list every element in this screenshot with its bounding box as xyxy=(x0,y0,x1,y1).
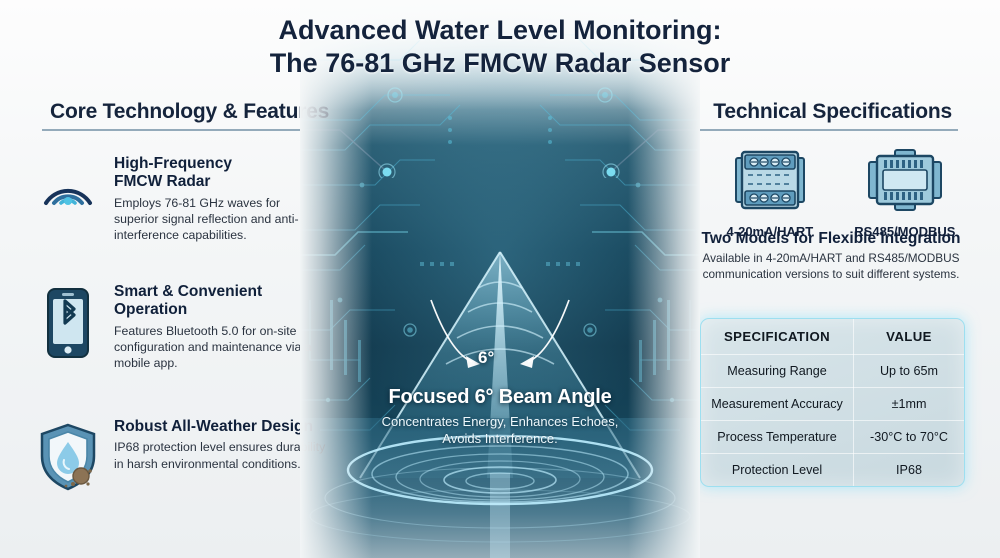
feature-smart-convenient-operation: Smart & Convenient Operation Features Bl… xyxy=(36,283,314,371)
spec-value: -30°C to 70°C xyxy=(854,421,964,454)
two-models-title: Two Models for Flexible Integration xyxy=(676,230,986,248)
beam-caption-block: Focused 6° Beam Angle Concentrates Energ… xyxy=(345,386,655,448)
smartphone-bluetooth-icon xyxy=(36,283,100,359)
beam-angle-label: 6° xyxy=(478,348,494,368)
feature-title: Smart & Convenient Operation xyxy=(114,283,314,320)
feature-robust-all-weather-design: Robust All-Weather Design IP68 protectio… xyxy=(36,418,329,492)
column-header-value: VALUE xyxy=(854,319,964,355)
spec-name: Protection Level xyxy=(701,454,854,487)
page-title: Advanced Water Level Monitoring: The 76-… xyxy=(0,14,1000,81)
left-header-connector-line xyxy=(40,118,460,178)
table-row: Protection Level IP68 xyxy=(701,454,964,487)
spec-name: Process Temperature xyxy=(701,421,854,454)
beam-caption-title: Focused 6° Beam Angle xyxy=(345,386,655,409)
spec-value: ±1mm xyxy=(854,388,964,421)
table-row: Measuring Range Up to 65m xyxy=(701,355,964,388)
feature-text: Robust All-Weather Design IP68 protectio… xyxy=(114,418,329,472)
spec-name: Measurement Accuracy xyxy=(701,388,854,421)
two-models-description: Available in 4-20mA/HART and RS485/MODBU… xyxy=(676,251,986,282)
feature-description: Features Bluetooth 5.0 for on-site confi… xyxy=(114,323,314,372)
infographic-canvas: Advanced Water Level Monitoring: The 76-… xyxy=(0,0,1000,558)
specifications-table: SPECIFICATION VALUE Measuring Range Up t… xyxy=(700,318,965,487)
title-line-2: The 76-81 GHz FMCW Radar Sensor xyxy=(0,47,1000,80)
column-header-specification: SPECIFICATION xyxy=(701,319,854,355)
table-row: Process Temperature -30°C to 70°C xyxy=(701,421,964,454)
right-header-connector-line xyxy=(540,118,960,178)
spec-name: Measuring Range xyxy=(701,355,854,388)
center-tech-panel xyxy=(300,0,700,558)
feature-description: IP68 protection level ensures durability… xyxy=(114,439,329,471)
shield-waterdrop-icon xyxy=(36,418,100,492)
table-header-row: SPECIFICATION VALUE xyxy=(701,319,964,355)
feature-title: Robust All-Weather Design xyxy=(114,418,329,436)
spec-value: IP68 xyxy=(854,454,964,487)
title-line-1: Advanced Water Level Monitoring: xyxy=(278,15,721,45)
two-models-block: Two Models for Flexible Integration Avai… xyxy=(676,230,986,282)
feature-description: Employs 76-81 GHz waves for superior sig… xyxy=(114,195,314,244)
beam-caption-subtitle: Concentrates Energy, Enhances Echoes, Av… xyxy=(345,413,655,448)
feature-text: Smart & Convenient Operation Features Bl… xyxy=(114,283,314,371)
spec-value: Up to 65m xyxy=(854,355,964,388)
table-row: Measurement Accuracy ±1mm xyxy=(701,388,964,421)
